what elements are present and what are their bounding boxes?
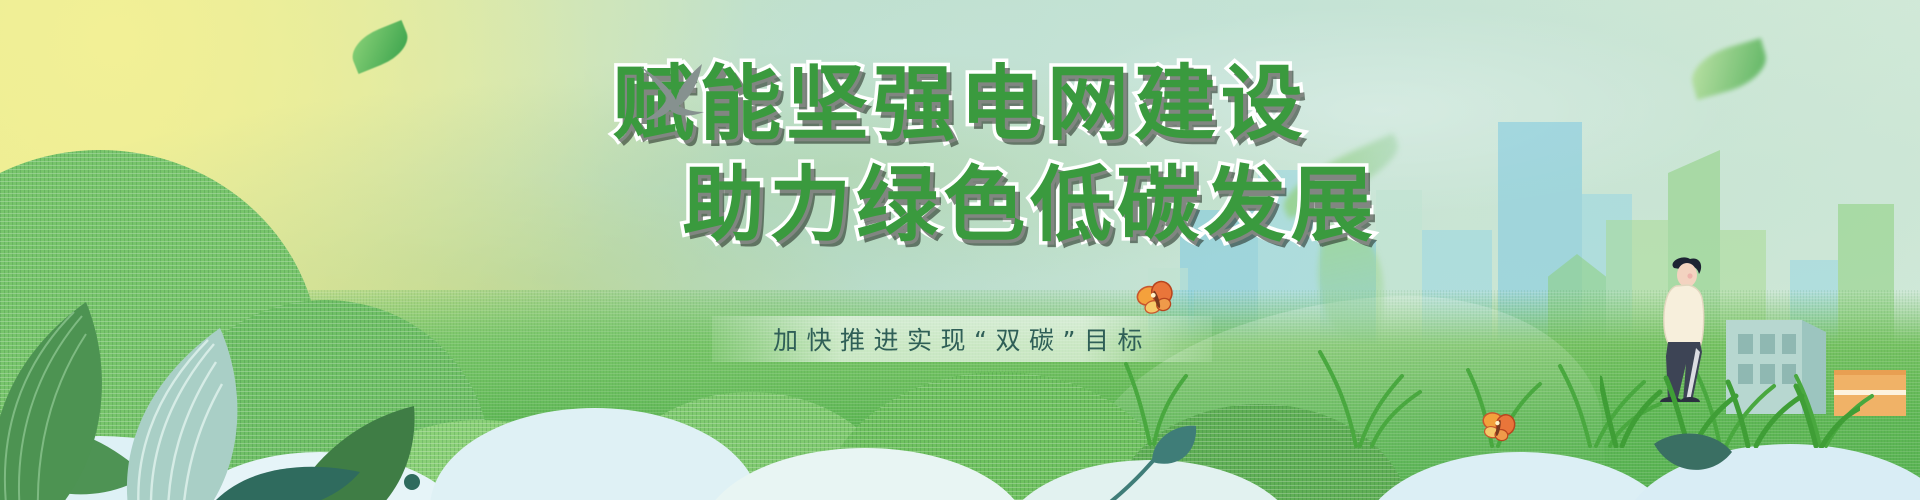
subtitle-band: 加快推进实现“双碳”目标 — [712, 316, 1212, 362]
title-line-1: 赋能坚强电网建设 — [0, 62, 1920, 149]
swallow-bird-icon — [634, 62, 720, 124]
title-block: 赋能坚强电网建设 助力绿色低碳发展 — [0, 62, 1920, 250]
title-line-2: 助力绿色低碳发展 — [0, 163, 1920, 250]
butterfly-icon — [1478, 410, 1520, 448]
small-leaf-icon — [1648, 424, 1768, 500]
subtitle-text: 加快推进实现“双碳”目标 — [773, 321, 1151, 357]
small-leaf-icon — [1090, 418, 1200, 500]
leaf-dot — [404, 474, 420, 490]
eco-power-grid-banner: 赋能坚强电网建设 助力绿色低碳发展 加快推进实现“双碳”目标 — [0, 0, 1920, 500]
small-leaf-icon — [210, 452, 370, 500]
butterfly-icon — [1135, 280, 1181, 320]
